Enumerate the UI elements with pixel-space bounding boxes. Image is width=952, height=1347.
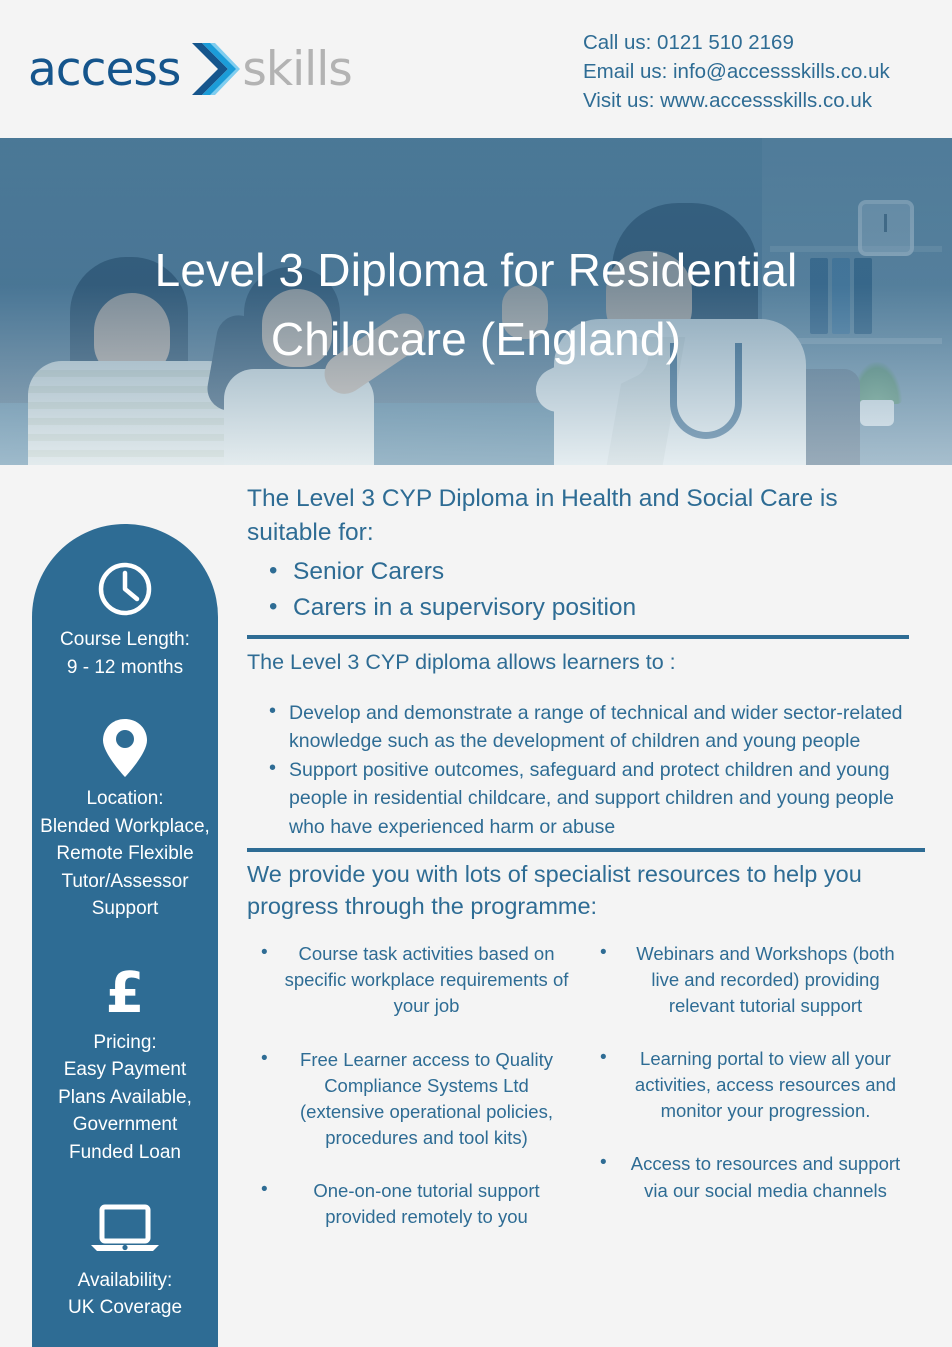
contact-phone[interactable]: Call us: 0121 510 2169 [583, 28, 890, 57]
sidebar-value-availability: UK Coverage [40, 1294, 210, 1322]
list-item: Course task activities based on specific… [247, 941, 586, 1020]
allows-learners-heading: The Level 3 CYP diploma allows learners … [247, 647, 925, 677]
resources-column-right: Webinars and Workshops (both live and re… [586, 941, 925, 1256]
sidebar-item-location: Location: Blended Workplace, Remote Flex… [32, 717, 218, 923]
sidebar-value-course-length: 9 - 12 months [40, 654, 210, 682]
contact-details: Call us: 0121 510 2169 Email us: info@ac… [583, 28, 890, 115]
sidebar-label-availability: Availability: [40, 1267, 210, 1295]
page-title-line-1: Level 3 Diploma for Residential [76, 236, 876, 305]
clock-icon [32, 558, 218, 620]
list-item: Free Learner access to Quality Complianc… [247, 1047, 586, 1152]
divider-1 [247, 635, 909, 639]
logo-word-skills: skills [242, 46, 351, 93]
laptop-icon [32, 1199, 218, 1261]
sidebar-label-location: Location: [40, 785, 210, 813]
list-item: Carers in a supervisory position [247, 590, 925, 626]
list-item: Access to resources and support via our … [586, 1151, 925, 1204]
page-header: access skills Call us: 0121 510 2169 Ema… [0, 0, 952, 136]
resources-grid: Course task activities based on specific… [247, 941, 925, 1256]
course-flyer-page: access skills Call us: 0121 510 2169 Ema… [0, 0, 952, 1347]
course-info-sidebar: Course Length: 9 - 12 months Location: B… [32, 524, 218, 1347]
sidebar-label-pricing: Pricing: [40, 1029, 210, 1057]
list-item: Support positive outcomes, safeguard and… [247, 756, 925, 841]
chevron-right-icon [188, 41, 240, 97]
sidebar-value-location: Blended Workplace, Remote Flexible Tutor… [40, 813, 210, 923]
sidebar-value-pricing: Easy Payment Plans Available, Government… [40, 1056, 210, 1166]
list-item: Webinars and Workshops (both live and re… [586, 941, 925, 1020]
svg-text:£: £ [106, 962, 145, 1022]
page-title: Level 3 Diploma for Residential Childcar… [76, 236, 876, 374]
brand-logo[interactable]: access skills [28, 38, 352, 100]
main-content: The Level 3 CYP Diploma in Health and So… [247, 482, 925, 1256]
hero-title-block: Level 3 Diploma for Residential Childcar… [76, 236, 876, 374]
allows-learners-list: Develop and demonstrate a range of techn… [247, 699, 925, 841]
pound-sterling-icon: £ [32, 961, 218, 1023]
page-title-line-2: Childcare (England) [76, 305, 876, 374]
resources-column-left: Course task activities based on specific… [247, 941, 586, 1256]
sidebar-item-pricing: £ Pricing: Easy Payment Plans Available,… [32, 961, 218, 1167]
suitable-for-heading: The Level 3 CYP Diploma in Health and So… [247, 482, 925, 550]
contact-website[interactable]: Visit us: www.accessskills.co.uk [583, 86, 890, 115]
suitable-for-list: Senior Carers Carers in a supervisory po… [247, 554, 925, 626]
resources-heading: We provide you with lots of specialist r… [247, 858, 925, 923]
location-pin-icon [32, 717, 218, 779]
sidebar-label-course-length: Course Length: [40, 626, 210, 654]
sidebar-item-course-length: Course Length: 9 - 12 months [32, 558, 218, 681]
list-item: One-on-one tutorial support provided rem… [247, 1178, 586, 1231]
hero-banner: Level 3 Diploma for Residential Childcar… [0, 138, 952, 465]
sidebar-item-availability: Availability: UK Coverage [32, 1199, 218, 1322]
contact-email[interactable]: Email us: info@accessskills.co.uk [583, 57, 890, 86]
divider-2 [247, 848, 925, 852]
logo-word-access: access [28, 46, 180, 93]
list-item: Develop and demonstrate a range of techn… [247, 699, 925, 756]
list-item: Learning portal to view all your activit… [586, 1046, 925, 1125]
list-item: Senior Carers [247, 554, 925, 590]
